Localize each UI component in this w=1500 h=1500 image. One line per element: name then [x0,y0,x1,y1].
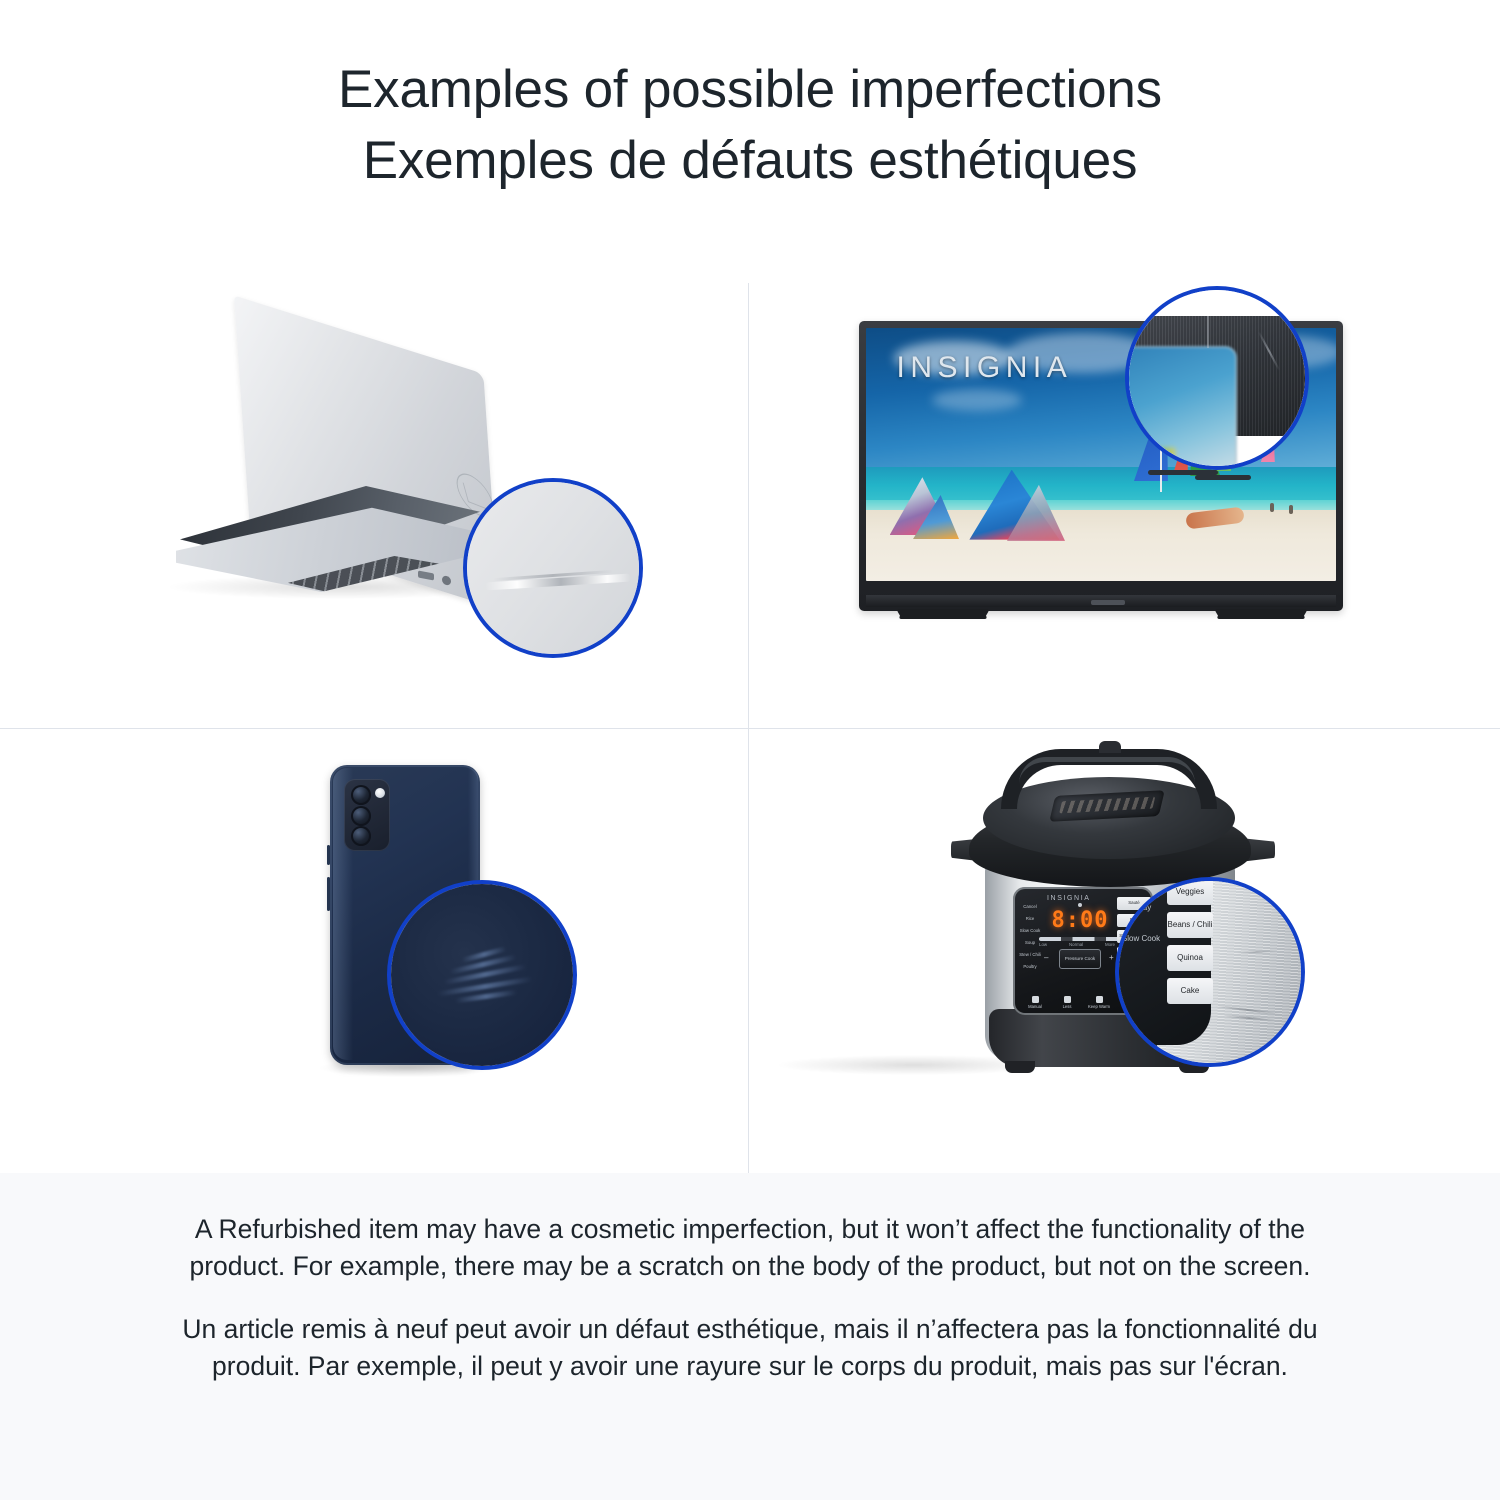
tv-scene-catamaran-hull [1195,475,1251,480]
cooker-bottom-button-label: Keep Warm [1088,1004,1110,1009]
laptop-illustration [0,283,748,728]
cooker-pressure-normal-label: Normal [1069,942,1083,947]
tv-scene-person [1289,505,1293,514]
magnifier-cooker-left-labels: Delay Slow Cook [1119,903,1163,965]
tv-scene-catamaran-hull [1148,470,1218,475]
magnifier-cooker-button[interactable]: Beans / Chili [1167,912,1213,938]
button-indicator-icon [1064,996,1071,1003]
magnifier-cooker-left-label[interactable]: Slow Cook [1119,934,1163,943]
footer-description-panel: A Refurbished item may have a cosmetic i… [0,1173,1500,1500]
footer-text-container: A Refurbished item may have a cosmetic i… [180,1211,1320,1385]
cooker-left-button-column: Cancel Rice Slow Cook Soup Stew / Chili … [1017,905,1043,977]
smartphone-illustration [0,729,748,1173]
magnifier-cooker-button[interactable]: Veggies [1167,879,1213,905]
title-line-french: Exemples de défauts esthétiques [0,125,1500,196]
cooker-bottom-button-label: Less [1063,1004,1072,1009]
cell-pressure-cooker: INSIGNIA 8:00 Low Normal More – Pressure… [749,729,1500,1173]
television-leg-right [1214,609,1306,619]
smartphone-camera-module [344,779,390,851]
camera-lens-icon [351,785,371,805]
cooker-left-button[interactable]: Stew / Chili [1017,953,1043,958]
magnifier-cooker-button[interactable]: Quinoa [1167,945,1213,971]
tv-scene-cloud [932,389,1022,411]
cooker-handle-highlight [1019,757,1195,784]
laptop-base [180,476,510,586]
cooker-bottom-button[interactable]: Manual [1023,996,1047,1010]
cooker-pressure-more-label: More [1105,942,1115,947]
button-indicator-icon [1096,996,1103,1003]
button-indicator-icon [1032,996,1039,1003]
tv-bezel-seam [1207,316,1209,348]
infographic-page: Examples of possible imperfections Exemp… [0,0,1500,1500]
camera-lens-icon [351,806,371,826]
cooker-left-button[interactable]: Soup [1017,941,1043,946]
pressure-cooker-illustration: INSIGNIA 8:00 Low Normal More – Pressure… [749,729,1500,1173]
laptop-audio-port-icon [442,575,451,586]
magnifier-cooker-left-label[interactable]: Delay [1119,903,1163,912]
magnifier-television-corner [1125,286,1309,470]
magnifier-laptop-scratch [463,478,643,658]
cooker-decrease-button[interactable]: – [1044,953,1048,962]
footer-paragraph-english: A Refurbished item may have a cosmetic i… [180,1211,1320,1285]
cooker-left-button[interactable]: Poultry [1017,965,1043,970]
product-example-grid: INSIGNIA [0,283,1500,1173]
smartphone-volume-button [327,877,330,911]
cooker-pressure-level-bar [1039,937,1123,941]
footer-paragraph-french: Un article remis à neuf peut avoir un dé… [180,1311,1320,1385]
cooker-left-button[interactable]: Cancel [1017,905,1043,910]
cooker-pressure-valve-icon [1099,741,1121,753]
laptop-usb-port-icon [418,570,434,580]
smartphone-power-button [327,845,330,865]
camera-lens-icon [351,826,371,846]
magnifier-laptop-surface [467,482,639,654]
camera-flash-icon [375,788,385,798]
title-line-english: Examples of possible imperfections [0,54,1500,125]
tv-corner-screen-edge [1125,346,1237,470]
cooker-bottom-button-label: Manual [1028,1004,1042,1009]
cooker-brand-label: INSIGNIA [1047,895,1091,902]
cooker-pressure-cook-button[interactable]: Pressure Cook [1059,949,1101,969]
magnifier-cooker-scratches: Delay Slow Cook Veggies Beans / Chili Qu… [1115,877,1305,1067]
television-brand-logo: INSIGNIA [897,351,1073,385]
cooker-increase-button[interactable]: + [1109,953,1114,962]
television-leg-left [896,609,988,619]
cell-television: INSIGNIA [749,283,1500,728]
cell-laptop [0,283,748,728]
cooker-time-display: 8:00 [1045,907,1115,933]
cooker-left-button[interactable]: Slow Cook [1017,929,1043,934]
television-brand-badge-icon [1091,600,1125,605]
cooker-bottom-button[interactable]: Keep Warm [1087,996,1111,1010]
cooker-left-button[interactable]: Rice [1017,917,1043,922]
cell-smartphone [0,729,748,1173]
cooker-bottom-button[interactable]: Less [1055,996,1079,1010]
cooker-foot [1005,1061,1035,1073]
tv-scene-person [1270,503,1274,512]
television-illustration: INSIGNIA [749,283,1500,728]
magnifier-cooker-button[interactable]: Cake [1167,978,1213,1004]
magnifier-cooker-buttons: Veggies Beans / Chili Quinoa Cake [1167,879,1213,1011]
page-title: Examples of possible imperfections Exemp… [0,54,1500,196]
magnifier-smartphone-scratches [387,880,577,1070]
